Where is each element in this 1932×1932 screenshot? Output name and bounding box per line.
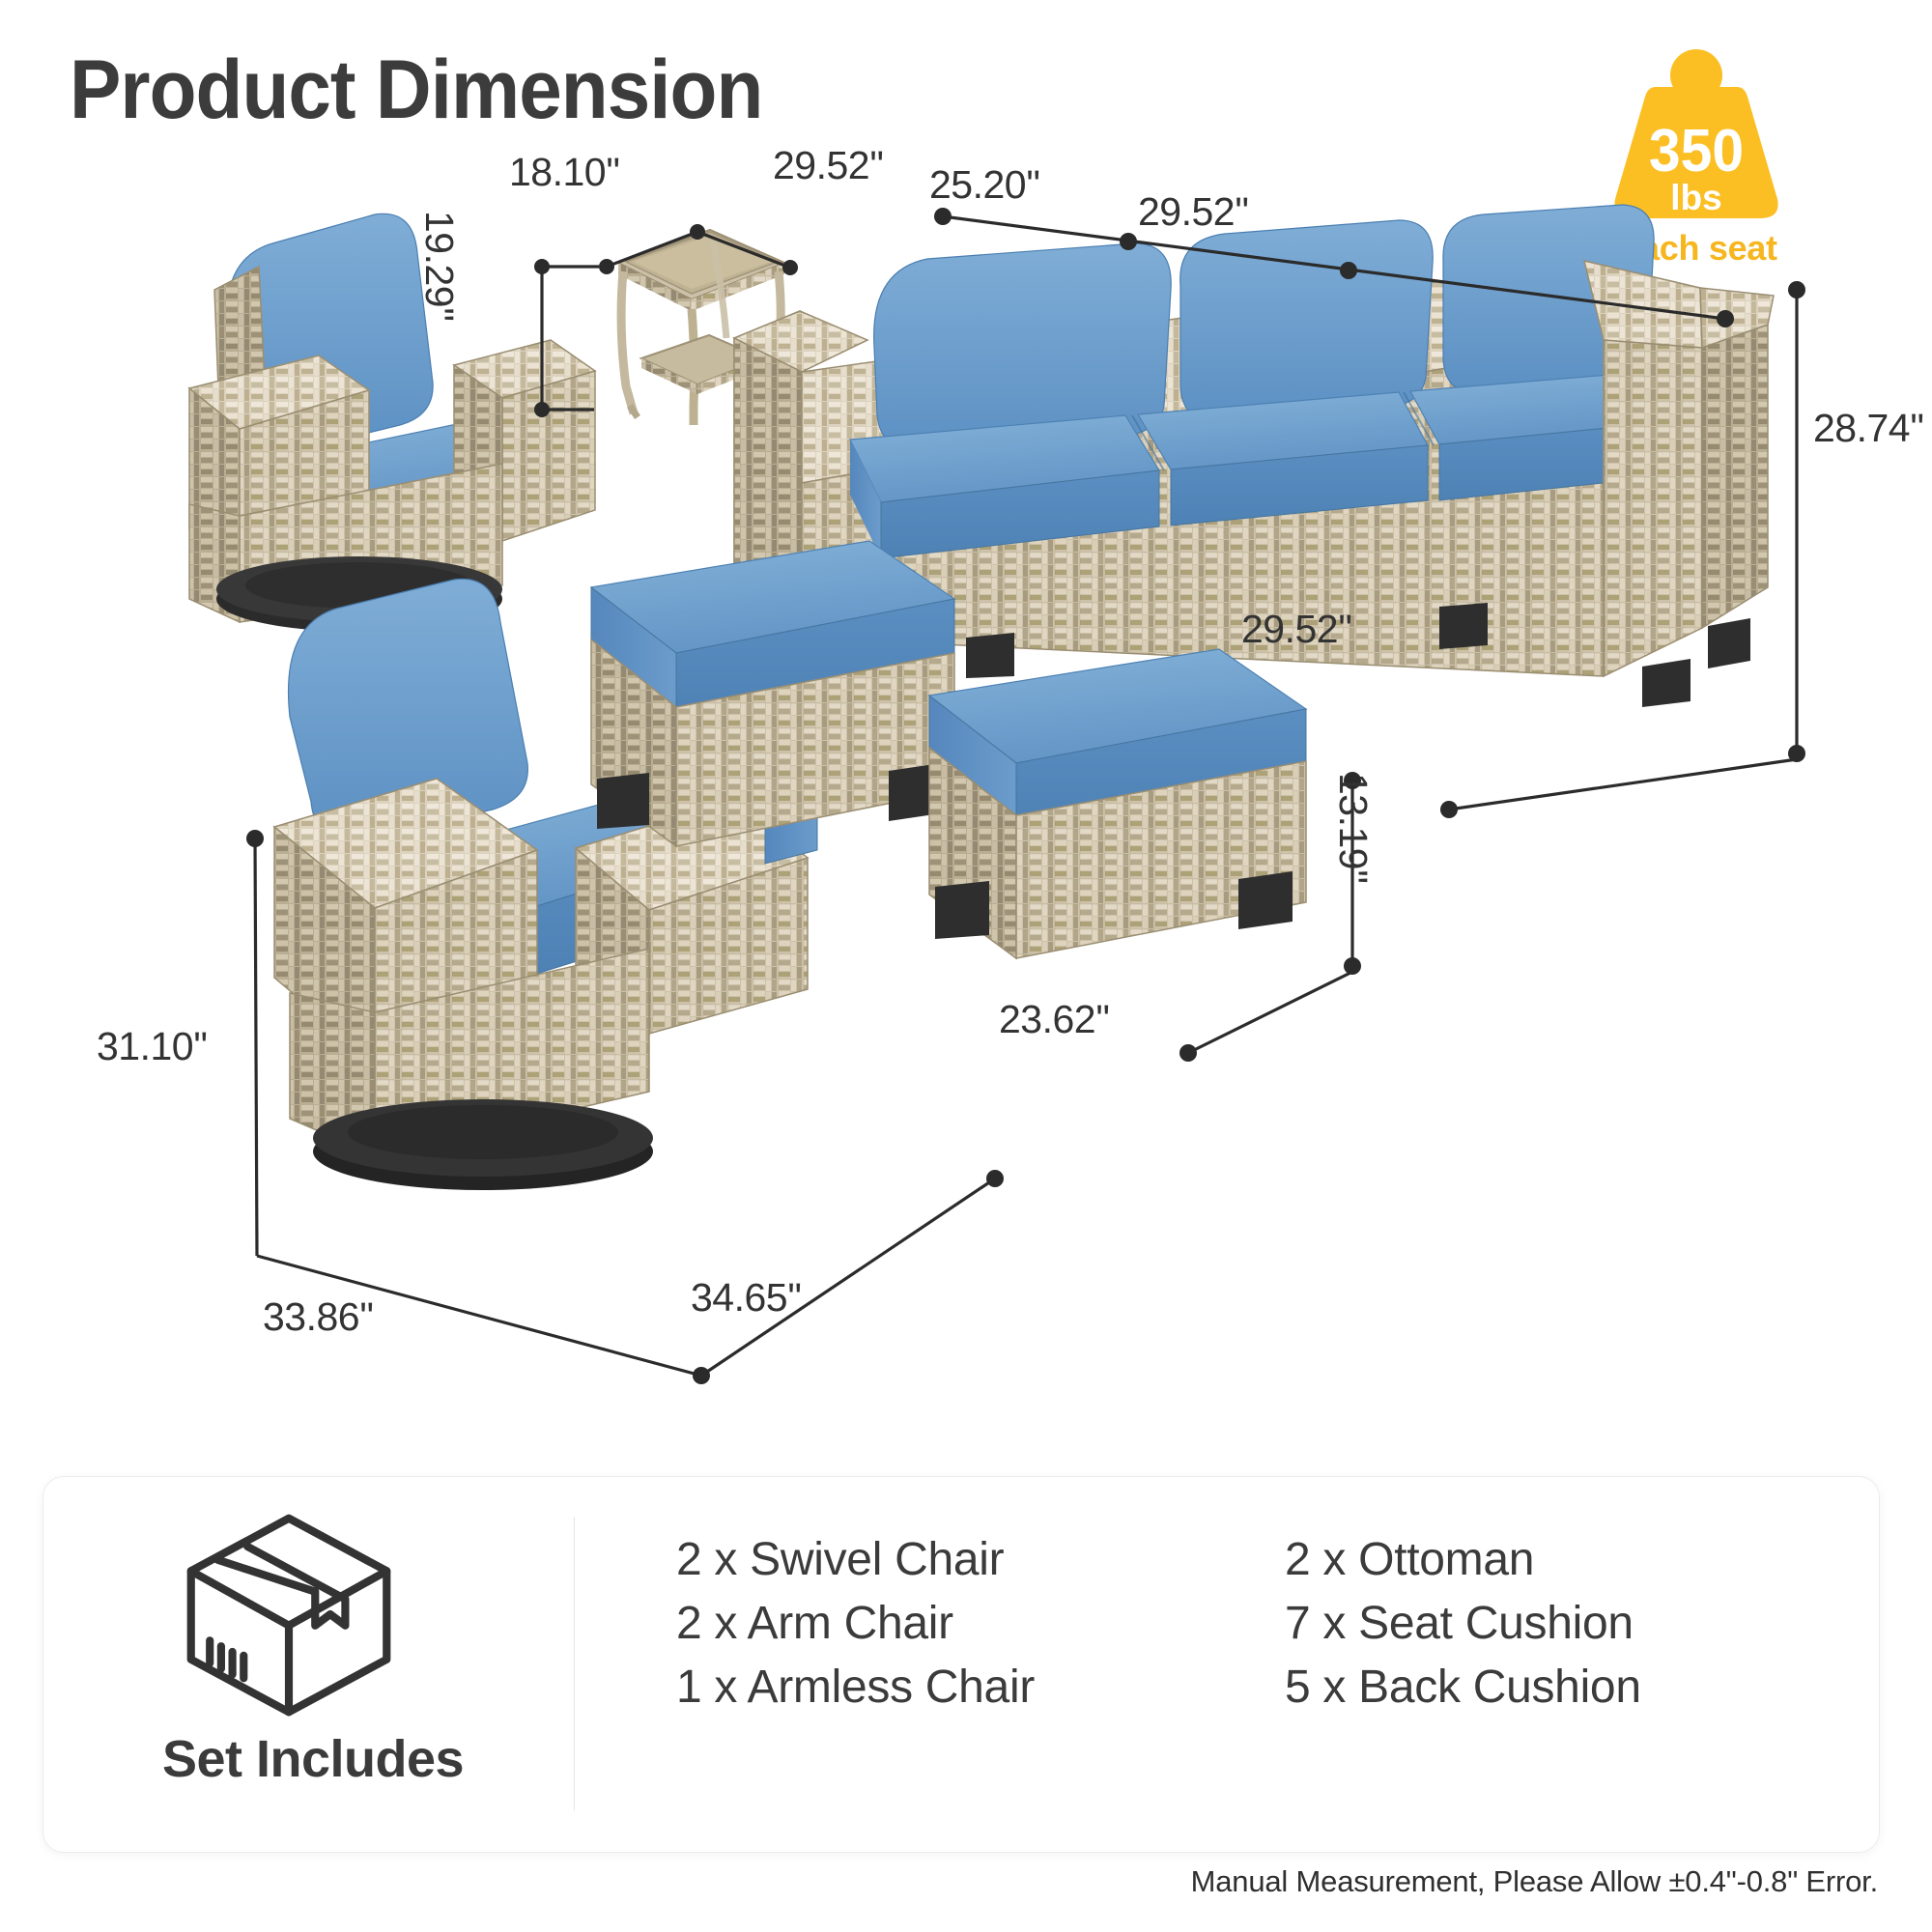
dimension-sofa-depth: 29.52'': [1241, 607, 1352, 652]
measurement-disclaimer: Manual Measurement, Please Allow ±0.4"-0…: [1191, 1864, 1878, 1899]
list-item: 2 x Swivel Chair: [676, 1528, 1035, 1592]
dimension-ottoman-width: 23.62'': [999, 997, 1110, 1042]
set-includes-left-column: 2 x Swivel Chair 2 x Arm Chair 1 x Armle…: [676, 1528, 1035, 1720]
dimension-swivel-chair-depth: 34.65'': [691, 1275, 802, 1321]
dimension-sofa-height: 28.74'': [1813, 406, 1924, 451]
set-includes-heading: Set Includes: [100, 1729, 526, 1789]
ottoman-left: [591, 541, 954, 846]
dimension-sofa-middle-seat: 25.20'': [929, 162, 1040, 208]
dimension-sofa-right-seat: 29.52'': [1138, 189, 1249, 235]
set-includes-right-column: 2 x Ottoman 7 x Seat Cushion 5 x Back Cu…: [1285, 1528, 1641, 1720]
furniture-illustration: [0, 0, 1932, 1449]
list-item: 1 x Armless Chair: [676, 1656, 1035, 1719]
list-item: 2 x Ottoman: [1285, 1528, 1641, 1592]
package-box-icon: [176, 1509, 402, 1723]
swivel-chair-upper: [189, 213, 595, 632]
list-item: 5 x Back Cushion: [1285, 1656, 1641, 1719]
infographic-page: Product Dimension 350 lbs Each seat: [0, 0, 1932, 1932]
list-item: 7 x Seat Cushion: [1285, 1592, 1641, 1656]
dimension-swivel-chair-width: 33.86'': [263, 1294, 374, 1340]
list-item: 2 x Arm Chair: [676, 1592, 1035, 1656]
ottoman-right: [929, 649, 1306, 958]
dimension-side-table-height: 19.29'': [416, 211, 462, 322]
dimension-side-table-width: 18.10'': [509, 150, 620, 195]
dimension-sofa-left-seat: 29.52'': [773, 143, 884, 188]
card-divider: [574, 1517, 575, 1810]
dimension-ottoman-height: 13.19'': [1330, 773, 1376, 884]
dimension-swivel-chair-height: 31.10'': [97, 1024, 208, 1069]
